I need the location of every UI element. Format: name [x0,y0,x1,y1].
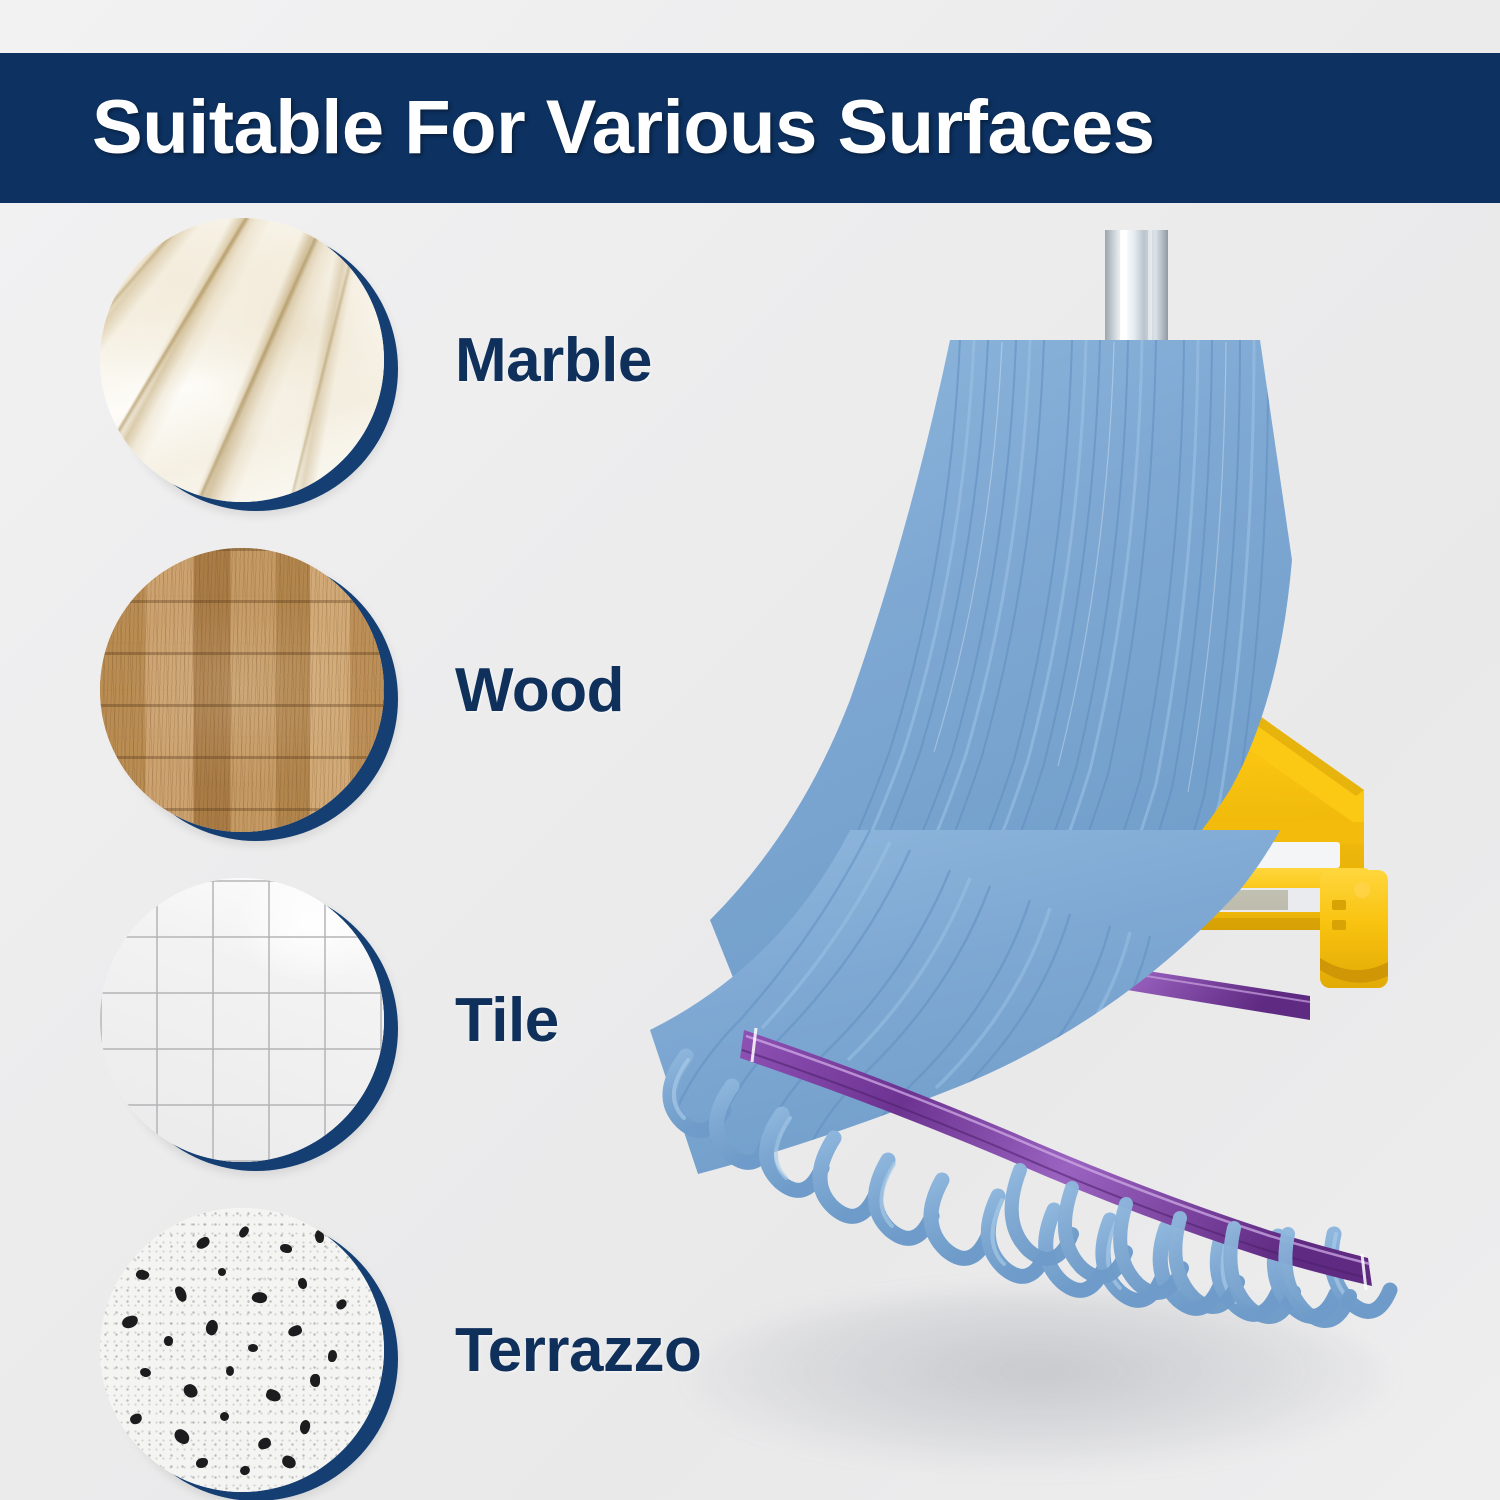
wood-swatch [100,548,384,832]
marble-texture [100,218,384,502]
swatch-disc-marble [100,218,384,502]
swatch-disc-terrazzo [100,1208,384,1492]
surface-label-tile: Tile [455,878,559,1162]
wood-texture [100,548,384,832]
swatch-disc-tile [100,878,384,1162]
marble-swatch [100,218,384,502]
tile-swatch [100,878,384,1162]
swatch-disc-wood [100,548,384,832]
header-banner: Suitable For Various Surfaces [0,53,1500,203]
product-image-mop [620,230,1440,1480]
tile-texture [100,878,384,1162]
mop-clamp-latch [1320,870,1388,988]
page-title: Suitable For Various Surfaces [92,90,1155,166]
surface-label-wood: Wood [455,548,624,832]
terrazzo-swatch [100,1208,384,1492]
terrazzo-texture [100,1208,384,1492]
infographic-page: Suitable For Various Surfaces Marble Woo… [0,0,1500,1500]
